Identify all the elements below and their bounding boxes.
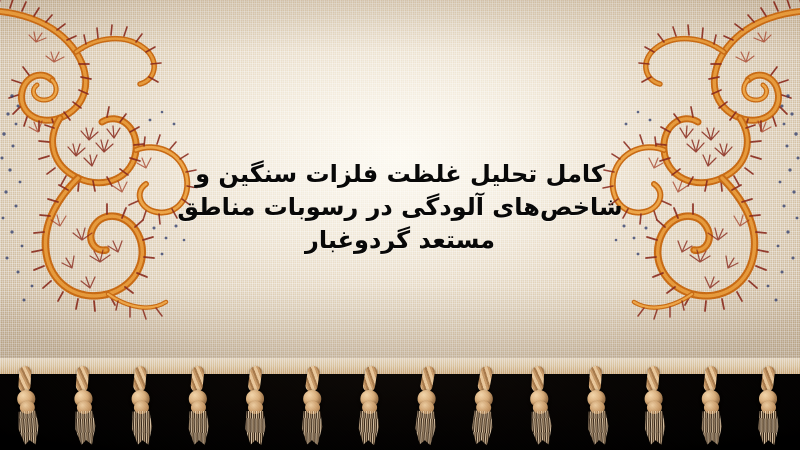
tassel-skirt (187, 411, 210, 445)
tassel (695, 374, 726, 447)
tassel (466, 373, 501, 447)
tassel-skirt (130, 411, 153, 446)
tassel (580, 373, 614, 446)
tassel-cord (133, 366, 147, 393)
title-line-2: شاخص‌های آلودگی در رسوبات مناطق (0, 191, 800, 224)
tassel-skirt (700, 411, 723, 445)
tassel-cord (190, 365, 205, 392)
title-line-1: کامل تحلیل غلظت فلزات سنگین و (0, 158, 800, 191)
tassel-skirt (357, 411, 380, 446)
slide-title: کامل تحلیل غلظت فلزات سنگین و شاخص‌های آ… (0, 158, 800, 257)
tassel (67, 373, 101, 446)
tassel (353, 373, 385, 446)
tassel (638, 373, 670, 446)
tassel-skirt (470, 410, 494, 445)
tassel (753, 374, 783, 446)
tassel-skirt (300, 411, 323, 445)
tassel-skirt (643, 411, 666, 446)
tassel-cord (362, 365, 378, 393)
tassel-skirt (757, 411, 779, 445)
tassel-skirt (73, 410, 97, 445)
tassel (240, 374, 270, 446)
tassel-cord (18, 366, 31, 393)
tassel (523, 373, 558, 447)
tassel-cord (305, 365, 321, 392)
tassel-cord (247, 365, 262, 392)
tassel-cord (703, 365, 718, 392)
tassel (182, 374, 213, 447)
tassel-skirt (586, 410, 610, 445)
tassel (10, 373, 45, 447)
tassel-cord (760, 365, 775, 392)
tassel-cord (588, 366, 602, 393)
tassel (125, 373, 157, 446)
tassel-cord (646, 366, 660, 393)
title-line-3: مستعد گردوغبار (0, 224, 800, 257)
tassel-skirt (413, 410, 437, 445)
tassel (409, 373, 443, 446)
tassel (296, 374, 327, 447)
tassel-cord (75, 366, 89, 393)
tassel-skirt (16, 410, 40, 445)
title-card-slide: کامل تحلیل غلظت فلزات سنگین و شاخص‌های آ… (0, 0, 800, 450)
tassel-skirt (529, 410, 553, 445)
fringe-backdrop (0, 374, 800, 450)
tassel-cord (531, 366, 544, 393)
tassel-skirt (244, 411, 266, 445)
